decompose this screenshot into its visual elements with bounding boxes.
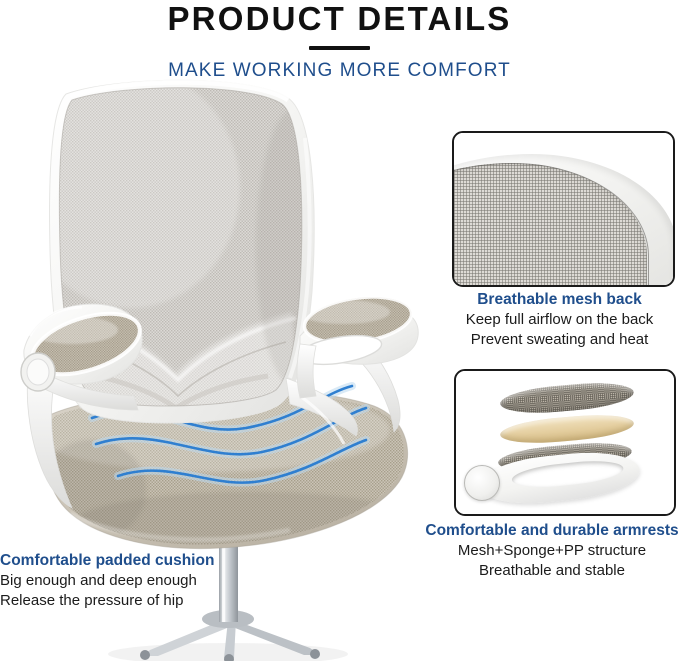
caption-armrests-heading: Comfortable and durable armrests <box>425 521 679 541</box>
product-details-page: PRODUCT DETAILS MAKE WORKING MORE COMFOR… <box>0 0 679 661</box>
title-divider <box>309 46 370 50</box>
mesh-back-closeup-image <box>454 133 673 285</box>
caption-cushion-line-1: Big enough and deep enough <box>0 571 250 591</box>
armrest-pivot-disc <box>464 465 500 501</box>
armrest-layer-sponge <box>499 411 635 447</box>
armrest-pp-frame <box>476 447 642 510</box>
panel-mesh-back-closeup <box>452 131 675 287</box>
armrest-right <box>290 288 440 398</box>
armrest-layer-mesh-top <box>499 379 635 417</box>
armrest-frame-opening <box>511 457 625 491</box>
caption-armrests: Comfortable and durable armrests Mesh+Sp… <box>425 521 679 580</box>
caption-cushion-line-2: Release the pressure of hip <box>0 591 250 611</box>
caption-mesh-back-line-1: Keep full airflow on the back <box>440 310 679 330</box>
caption-mesh-back: Breathable mesh back Keep full airflow o… <box>440 290 679 349</box>
caption-armrests-line-1: Mesh+Sponge+PP structure <box>425 541 679 561</box>
armrest-pivot-left <box>21 353 55 391</box>
page-header: PRODUCT DETAILS MAKE WORKING MORE COMFOR… <box>0 0 679 80</box>
caption-cushion-heading: Comfortable padded cushion <box>0 551 250 571</box>
caption-mesh-back-line-2: Prevent sweating and heat <box>440 330 679 350</box>
armrest-exploded-image <box>456 371 674 514</box>
caption-cushion: Comfortable padded cushion Big enough an… <box>0 551 250 610</box>
caption-mesh-back-heading: Breathable mesh back <box>440 290 679 310</box>
page-title: PRODUCT DETAILS <box>0 2 679 35</box>
caption-armrests-line-2: Breathable and stable <box>425 561 679 581</box>
panel-armrest-exploded <box>454 369 676 516</box>
